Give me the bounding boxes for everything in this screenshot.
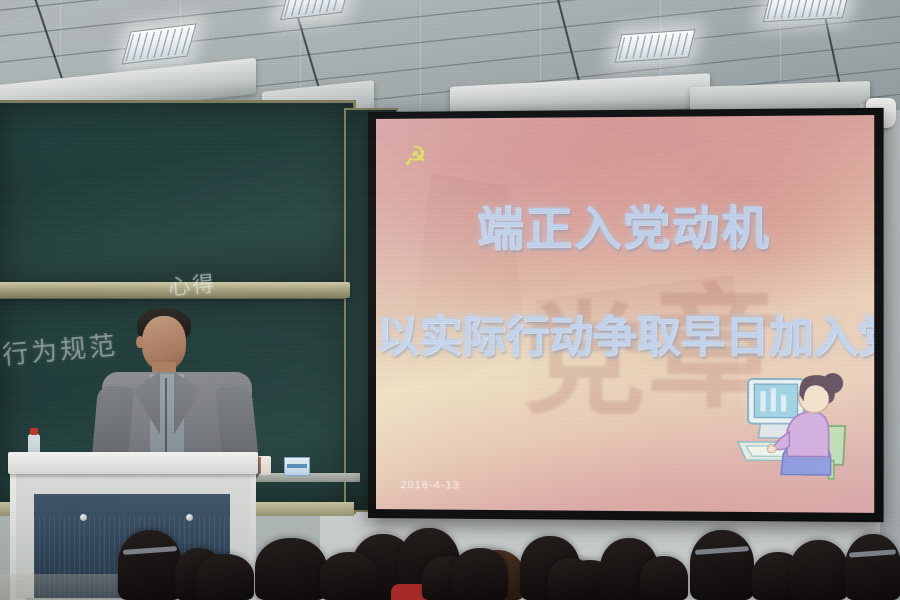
hairband bbox=[695, 546, 749, 555]
projection-screen-frame: 党 章 ☭ 端正入党动机 以实际行动争取早日加入党组织 2016-4-13 bbox=[368, 108, 884, 522]
ceiling-light-3 bbox=[615, 29, 696, 63]
audience-member bbox=[255, 538, 327, 600]
audience-member bbox=[118, 530, 182, 600]
audience-member bbox=[196, 554, 254, 600]
chalk-writing-right: 心得 bbox=[167, 266, 218, 302]
slide-date: 2016-4-13 bbox=[400, 480, 459, 492]
audience-member bbox=[845, 534, 900, 600]
podium-top bbox=[8, 452, 258, 474]
audience-member bbox=[640, 556, 688, 600]
hairband bbox=[849, 550, 896, 558]
audience-member bbox=[690, 530, 754, 600]
hairband bbox=[123, 546, 177, 555]
audience-member bbox=[790, 540, 848, 600]
audience-member bbox=[452, 548, 508, 600]
projection-screen: 党 章 ☭ 端正入党动机 以实际行动争取早日加入党组织 2016-4-13 bbox=[376, 115, 874, 513]
audience-member bbox=[548, 558, 594, 600]
blackboard-upper bbox=[0, 100, 356, 292]
presenter-ear bbox=[136, 336, 144, 348]
blue-box bbox=[284, 457, 310, 476]
audience bbox=[0, 520, 900, 600]
person-at-computer-icon bbox=[730, 367, 854, 481]
slide-subtitle: 以实际行动争取早日加入党组织 bbox=[376, 302, 874, 365]
lecture-hall-photo: 心得 行为规范 党 章 ☭ 端正入党动机 以实际行动争取早日加入党组织 2016… bbox=[0, 0, 900, 600]
hammer-sickle-icon: ☭ bbox=[398, 142, 432, 172]
audience-member bbox=[320, 552, 378, 600]
slide-title: 端正入党动机 bbox=[376, 191, 874, 259]
